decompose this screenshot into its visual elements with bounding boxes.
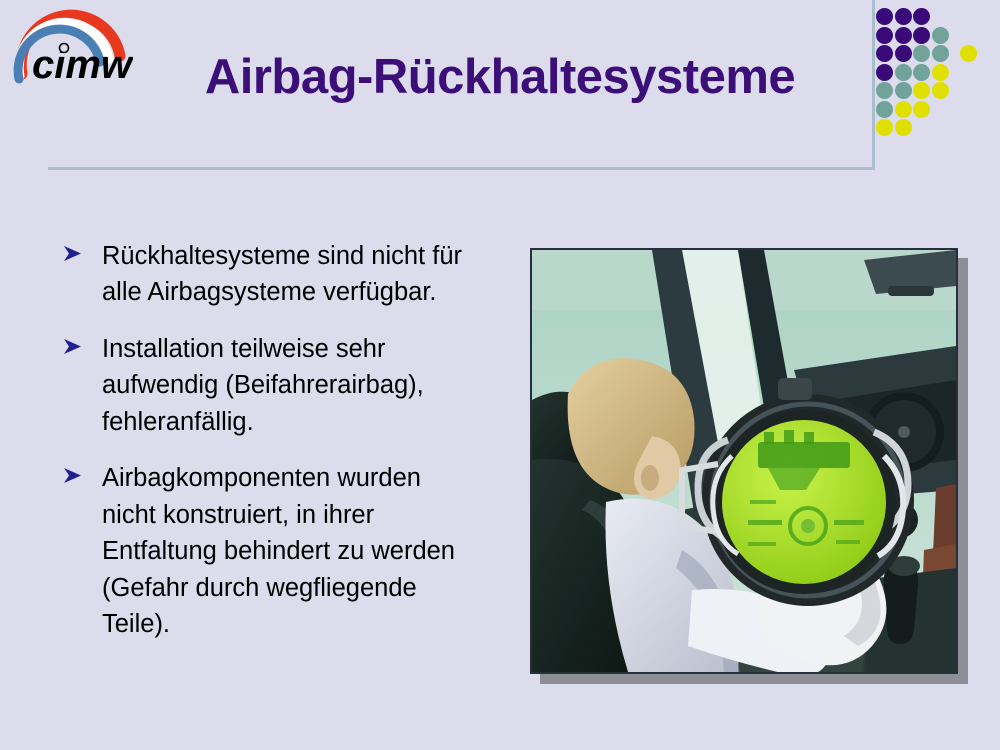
dot-purple (895, 45, 912, 62)
dot-purple (913, 8, 930, 25)
dot-teal (913, 45, 930, 62)
dot-teal (932, 45, 949, 62)
dot-yellow (932, 64, 949, 81)
dot-purple (876, 45, 893, 62)
list-item: Rückhaltesysteme sind nicht für alle Air… (55, 238, 475, 311)
dot-purple (876, 64, 893, 81)
list-item-text: Rückhaltesysteme sind nicht für alle Air… (102, 238, 475, 311)
arrowhead-bullet-icon (59, 333, 87, 361)
dot-yellow (932, 82, 949, 99)
dot-teal (876, 101, 893, 118)
car-interior-photo (532, 250, 956, 672)
dot-yellow (895, 101, 912, 118)
dot-teal (895, 82, 912, 99)
list-item-text: Installation teilweise sehr aufwendig (B… (102, 331, 475, 440)
dot-purple (913, 27, 930, 44)
dot-teal (932, 27, 949, 44)
dot-purple (876, 27, 893, 44)
list-item: Airbagkomponenten wurden nicht konstruie… (55, 460, 475, 642)
list-item: Installation teilweise sehr aufwendig (B… (55, 331, 475, 440)
bullet-list: Rückhaltesysteme sind nicht für alle Air… (55, 238, 475, 643)
cimw-logo: cimw (8, 4, 133, 90)
title-underline-rule (48, 167, 875, 170)
dot-yellow (913, 82, 930, 99)
dot-grid-decoration (876, 8, 994, 148)
dot-yellow (876, 119, 893, 136)
logo-wordmark: cimw (32, 43, 133, 87)
dot-yellow (895, 119, 912, 136)
dot-teal (913, 64, 930, 81)
slide-canvas: cimw Airbag-Rückhaltesysteme Rückhaltesy… (0, 0, 1000, 750)
photo-frame (530, 248, 958, 674)
dot-yellow (913, 101, 930, 118)
title-right-rule (872, 0, 875, 170)
dot-purple (895, 8, 912, 25)
page-title: Airbag-Rückhaltesysteme (150, 52, 850, 103)
dot-teal (895, 64, 912, 81)
dot-teal (876, 82, 893, 99)
dot-yellow (960, 45, 977, 62)
list-item-text: Airbagkomponenten wurden nicht konstruie… (102, 460, 475, 642)
dot-purple (876, 8, 893, 25)
dot-purple (895, 27, 912, 44)
arrowhead-bullet-icon (59, 462, 87, 490)
arrowhead-bullet-icon (59, 240, 87, 268)
